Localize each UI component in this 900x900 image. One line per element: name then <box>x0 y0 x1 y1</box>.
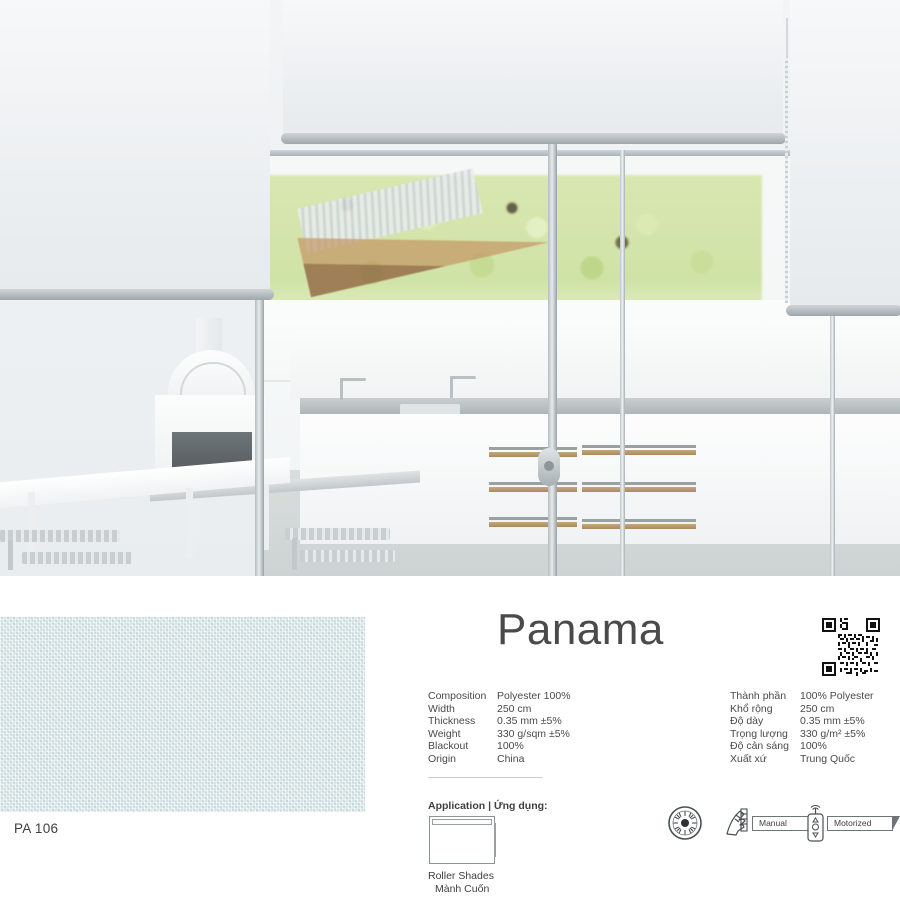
spec-row: Origin China <box>428 753 571 766</box>
spec-label: Blackout <box>428 740 497 753</box>
spec-label: Width <box>428 703 497 716</box>
specs-table-en: Composition Polyester 100% Width 250 cm … <box>428 690 571 766</box>
drawer-stack-3 <box>699 414 800 544</box>
product-info-panel: PA 106 Panama <box>0 576 900 900</box>
spec-value: 100% <box>497 740 571 753</box>
spec-value: 100% <box>800 740 874 753</box>
spec-label: Độ cản sáng <box>730 740 800 753</box>
spec-row: Width 250 cm <box>428 703 571 716</box>
section-divider <box>428 777 543 778</box>
faucet-left <box>340 378 343 400</box>
drawer-gap-e <box>582 482 696 485</box>
window-mullion-right <box>620 150 625 576</box>
drawer-gap-b <box>489 482 577 485</box>
roller-blind-left-bottom-bar <box>0 289 274 300</box>
spec-row: Xuất xứ Trung Quốc <box>730 753 874 766</box>
spec-label: Thành phần <box>730 690 800 703</box>
drawer-front-e <box>582 487 696 492</box>
product-lifestyle-photo <box>0 0 900 576</box>
spec-value: 250 cm <box>497 703 571 716</box>
cabinet-3 <box>799 414 900 544</box>
spec-label: Weight <box>428 728 497 741</box>
spec-label: Composition <box>428 690 497 703</box>
roller-blind-center-bottom-bar <box>281 133 786 144</box>
spec-row: Weight 330 g/sqm ±5% <box>428 728 571 741</box>
blackout-sun-icon <box>668 806 702 840</box>
spec-row: Blackout 100% <box>428 740 571 753</box>
spec-row: Độ dày 0.35 mm ±5% <box>730 715 874 728</box>
roller-shade-icon <box>429 816 495 864</box>
spec-value: 0.35 mm ±5% <box>800 715 874 728</box>
bench-2 <box>22 552 132 564</box>
drawer-gap-a <box>489 447 577 450</box>
spec-value: 100% Polyester <box>800 690 874 703</box>
roller-chain <box>494 823 496 857</box>
application-type-en: Roller Shades <box>428 870 494 882</box>
spec-row: Thickness 0.35 mm ±5% <box>428 715 571 728</box>
spec-label: Trọng lượng <box>730 728 800 741</box>
spec-label: Origin <box>428 753 497 766</box>
sliding-door-handle <box>538 448 560 486</box>
bench-3-leg <box>292 538 297 570</box>
faucet-right <box>450 376 453 398</box>
kitchen-backsplash <box>290 330 900 400</box>
bench-1-leg <box>8 540 13 570</box>
roller-blind-left <box>0 0 270 298</box>
bench-4 <box>300 550 395 562</box>
drawer-front-f <box>582 524 696 529</box>
application-caption: Roller Shades Mành Cuốn <box>428 870 494 895</box>
spec-value: China <box>497 753 571 766</box>
roller-blind-bead-chain <box>785 58 788 303</box>
spec-value: Polyester 100% <box>497 690 571 703</box>
drawer-gap-f <box>582 519 696 522</box>
drawer-gap-c <box>489 517 577 520</box>
bench-1 <box>0 530 120 542</box>
spec-row: Trọng lượng 330 g/m² ±5% <box>730 728 874 741</box>
spec-value: 250 cm <box>800 703 874 716</box>
product-title: Panama <box>497 608 664 652</box>
spec-label: Thickness <box>428 715 497 728</box>
spec-row: Khổ rộng 250 cm <box>730 703 874 716</box>
spec-row: Độ cản sáng 100% <box>730 740 874 753</box>
motorized-tag: Motorized <box>827 816 893 831</box>
roller-tube <box>432 819 492 825</box>
manual-hand-chain-icon <box>724 807 752 837</box>
application-type-vi: Mành Cuốn <box>428 883 494 896</box>
drawer-front-d <box>582 450 696 455</box>
bench-3 <box>285 528 390 540</box>
spec-value: 330 g/m² ±5% <box>800 728 874 741</box>
spec-row: Thành phần 100% Polyester <box>730 690 874 703</box>
qr-code[interactable] <box>822 618 880 676</box>
spec-label: Xuất xứ <box>730 753 800 766</box>
specs-table-vi: Thành phần 100% Polyester Khổ rộng 250 c… <box>730 690 874 766</box>
spec-row: Composition Polyester 100% <box>428 690 571 703</box>
drawer-front-c <box>489 522 577 527</box>
swatch-code-label: PA 106 <box>14 821 58 836</box>
roller-blind-right <box>790 0 900 312</box>
table-leg-mid <box>186 488 193 558</box>
kitchen-countertop <box>300 398 900 414</box>
drawer-gap-d <box>582 445 696 448</box>
spec-value: Trung Quốc <box>800 753 874 766</box>
drawer-front-a <box>489 452 577 457</box>
operation-icons: Manual Motorized <box>668 804 893 848</box>
fabric-catalog-page: PA 106 Panama <box>0 0 900 900</box>
roller-blind-cord <box>786 18 788 58</box>
roller-blind-right-bottom-bar <box>786 305 900 316</box>
motorized-remote-icon <box>805 804 827 844</box>
application-heading: Application | Ứng dụng: <box>428 800 548 812</box>
roller-blind-center <box>283 0 783 142</box>
spec-value: 0.35 mm ±5% <box>497 715 571 728</box>
drawer-front-b <box>489 487 577 492</box>
fabric-swatch <box>0 617 365 812</box>
spec-value: 330 g/sqm ±5% <box>497 728 571 741</box>
spec-label: Khổ rộng <box>730 703 800 716</box>
spec-label: Độ dày <box>730 715 800 728</box>
